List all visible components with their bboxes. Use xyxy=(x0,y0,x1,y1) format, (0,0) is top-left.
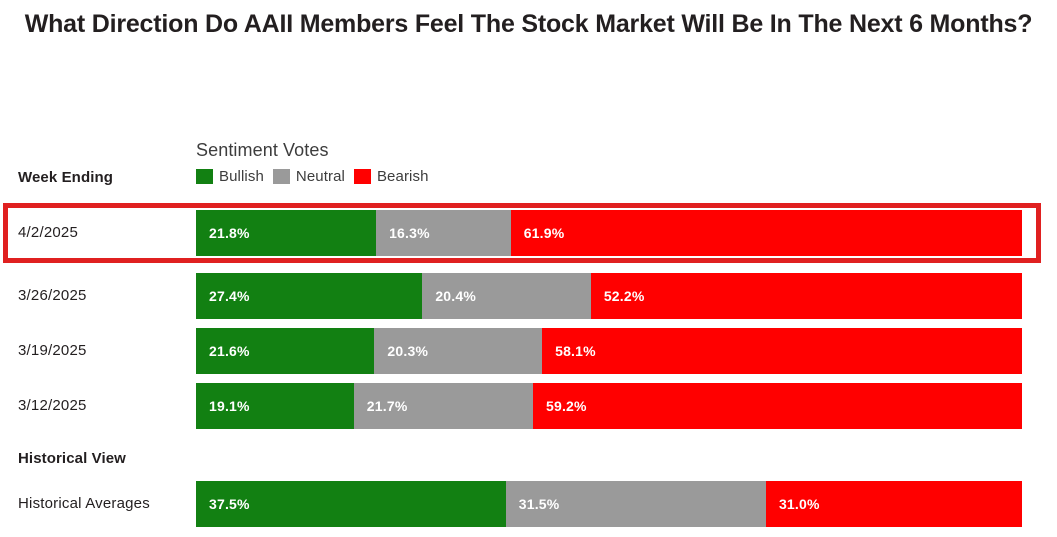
chart-row[interactable]: 4/2/202521.8%16.3%61.9% xyxy=(0,210,1057,256)
stacked-bar: 27.4%20.4%52.2% xyxy=(196,273,1022,319)
bar-segment-neutral[interactable]: 16.3% xyxy=(376,210,511,256)
stacked-bar: 37.5%31.5%31.0% xyxy=(196,481,1022,527)
chart-row[interactable]: 3/19/202521.6%20.3%58.1% xyxy=(0,328,1057,374)
bar-segment-neutral[interactable]: 20.4% xyxy=(422,273,591,319)
chart-row[interactable]: 3/26/202527.4%20.4%52.2% xyxy=(0,273,1057,319)
legend-label: Bearish xyxy=(377,168,429,185)
bar-segment-value: 61.9% xyxy=(524,225,565,241)
bar-segment-bullish[interactable]: 21.8% xyxy=(196,210,376,256)
bar-segment-value: 20.3% xyxy=(387,343,428,359)
bar-segment-value: 16.3% xyxy=(389,225,430,241)
bar-segment-bearish[interactable]: 52.2% xyxy=(591,273,1022,319)
bar-segment-value: 21.6% xyxy=(209,343,250,359)
chart-row[interactable]: Historical Averages37.5%31.5%31.0% xyxy=(0,481,1057,527)
bar-segment-bullish[interactable]: 21.6% xyxy=(196,328,374,374)
bar-segment-neutral[interactable]: 20.3% xyxy=(374,328,542,374)
bar-segment-value: 27.4% xyxy=(209,288,250,304)
bar-segment-bullish[interactable]: 19.1% xyxy=(196,383,354,429)
stacked-bar: 21.6%20.3%58.1% xyxy=(196,328,1022,374)
chart-header: Sentiment Votes Week Ending BullishNeutr… xyxy=(0,140,1057,196)
legend-swatch-bearish-icon xyxy=(354,169,371,184)
bar-segment-bearish[interactable]: 59.2% xyxy=(533,383,1022,429)
row-label: 3/19/2025 xyxy=(18,328,87,374)
chart-plot-area: Sentiment Votes Week Ending BullishNeutr… xyxy=(0,0,1057,537)
bar-segment-value: 19.1% xyxy=(209,398,250,414)
bar-segment-neutral[interactable]: 21.7% xyxy=(354,383,533,429)
bar-segment-bullish[interactable]: 27.4% xyxy=(196,273,422,319)
stacked-bar: 21.8%16.3%61.9% xyxy=(196,210,1022,256)
row-label: 3/26/2025 xyxy=(18,273,87,319)
historical-view-heading: Historical View xyxy=(18,450,126,467)
bar-segment-value: 52.2% xyxy=(604,288,645,304)
legend-item-neutral[interactable]: Neutral xyxy=(273,168,345,185)
bar-segment-value: 21.7% xyxy=(367,398,408,414)
bar-segment-value: 31.5% xyxy=(519,496,560,512)
bar-segment-bullish[interactable]: 37.5% xyxy=(196,481,506,527)
week-ending-column-header: Week Ending xyxy=(18,169,113,186)
bar-segment-value: 58.1% xyxy=(555,343,596,359)
legend-item-bullish[interactable]: Bullish xyxy=(196,168,264,185)
sentiment-votes-label: Sentiment Votes xyxy=(196,140,329,161)
legend-label: Neutral xyxy=(296,168,345,185)
row-label: Historical Averages xyxy=(18,481,150,527)
chart-row[interactable]: 3/12/202519.1%21.7%59.2% xyxy=(0,383,1057,429)
legend-swatch-bullish-icon xyxy=(196,169,213,184)
legend-swatch-neutral-icon xyxy=(273,169,290,184)
bar-segment-value: 20.4% xyxy=(435,288,476,304)
bar-segment-bearish[interactable]: 31.0% xyxy=(766,481,1022,527)
row-label: 4/2/2025 xyxy=(18,210,78,256)
row-label: 3/12/2025 xyxy=(18,383,87,429)
bar-segment-value: 59.2% xyxy=(546,398,587,414)
bar-segment-neutral[interactable]: 31.5% xyxy=(506,481,766,527)
legend-label: Bullish xyxy=(219,168,264,185)
bar-segment-value: 37.5% xyxy=(209,496,250,512)
stacked-bar: 19.1%21.7%59.2% xyxy=(196,383,1022,429)
bar-segment-bearish[interactable]: 58.1% xyxy=(542,328,1022,374)
bar-segment-value: 21.8% xyxy=(209,225,250,241)
bar-segment-bearish[interactable]: 61.9% xyxy=(511,210,1022,256)
legend-item-bearish[interactable]: Bearish xyxy=(354,168,429,185)
chart-legend: BullishNeutralBearish xyxy=(196,168,438,185)
bar-segment-value: 31.0% xyxy=(779,496,820,512)
